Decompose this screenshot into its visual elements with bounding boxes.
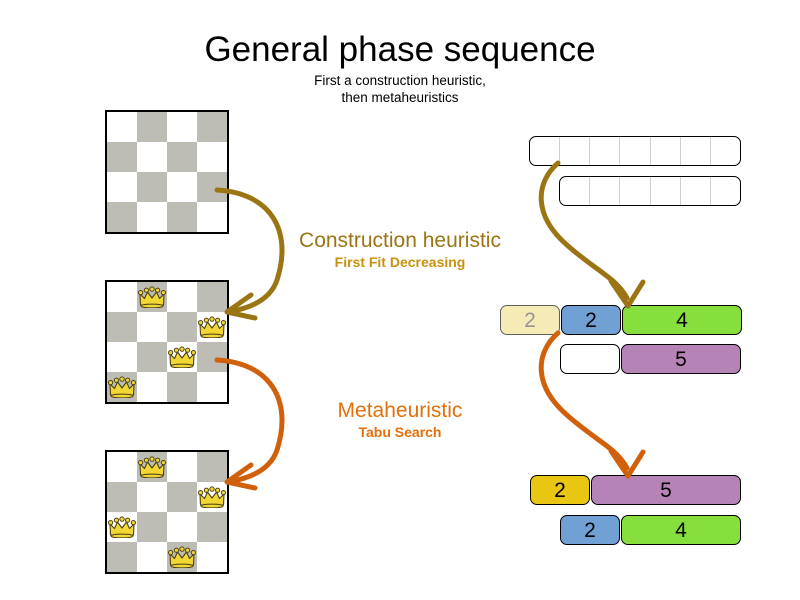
bin-item: 4: [621, 515, 741, 545]
board-cell: [197, 202, 227, 232]
bin-slot: [711, 137, 740, 165]
board-cell: [167, 482, 197, 512]
board-cell: [107, 202, 137, 232]
chessboard-after-metaheuristic: [105, 450, 229, 574]
bin-item: 2: [560, 515, 620, 545]
board-cell: [107, 312, 137, 342]
bin-slot: [620, 177, 650, 205]
board-cell: [167, 202, 197, 232]
board-cell: [197, 512, 227, 542]
queen-icon: [138, 286, 166, 308]
bin-row-metaheuristic-1: 25: [530, 475, 742, 505]
bin-row-construction-2: 5: [560, 344, 742, 374]
board-cell: [167, 282, 197, 312]
board-cell: [137, 112, 167, 142]
board-cell: [107, 372, 137, 402]
bin-item: 5: [591, 475, 741, 505]
board-cell: [107, 542, 137, 572]
board-cell: [167, 542, 197, 572]
page-subtitle-line-1: First a construction heuristic,: [0, 72, 800, 89]
board-cell: [197, 342, 227, 372]
bin-item: 2: [500, 305, 560, 335]
queen-icon: [168, 346, 196, 368]
board-cell: [107, 282, 137, 312]
board-cell: [137, 142, 167, 172]
board-cell: [107, 112, 137, 142]
page-subtitle-line-2: then metaheuristics: [0, 89, 800, 106]
board-cell: [137, 172, 167, 202]
board-cell: [167, 142, 197, 172]
board-cell: [137, 202, 167, 232]
bin-slot: [590, 137, 620, 165]
board-cell: [137, 282, 167, 312]
board-cell: [197, 172, 227, 202]
board-cell: [137, 372, 167, 402]
board-cell: [167, 372, 197, 402]
bin-item: 2: [530, 475, 590, 505]
board-cell: [137, 512, 167, 542]
bin-slot: [681, 137, 711, 165]
phase-algorithm-construction: First Fit Decreasing: [270, 253, 530, 271]
phase-name-construction: Construction heuristic: [270, 228, 530, 253]
board-cell: [107, 342, 137, 372]
queen-icon: [168, 546, 196, 568]
board-cell: [197, 372, 227, 402]
bin-slot: [590, 177, 620, 205]
board-cell: [137, 482, 167, 512]
board-cell: [137, 542, 167, 572]
bin-row-construction-1: 224: [500, 305, 743, 335]
bin-item: 2: [561, 305, 621, 335]
board-cell: [167, 342, 197, 372]
board-cell: [197, 312, 227, 342]
phase-label-construction-heuristic: Construction heuristic First Fit Decreas…: [270, 228, 530, 271]
phase-name-metaheuristic: Metaheuristic: [270, 398, 530, 423]
board-cell: [107, 172, 137, 202]
bin-item: 5: [621, 344, 741, 374]
board-cell: [107, 482, 137, 512]
board-cell: [197, 542, 227, 572]
bin-item: 4: [622, 305, 742, 335]
chessboard-initial: [105, 110, 229, 234]
queen-icon: [108, 376, 136, 398]
phase-algorithm-metaheuristic: Tabu Search: [270, 423, 530, 441]
phase-label-metaheuristic: Metaheuristic Tabu Search: [270, 398, 530, 441]
queen-icon: [198, 316, 226, 338]
board-cell: [107, 452, 137, 482]
queen-icon: [198, 486, 226, 508]
board-cell: [167, 312, 197, 342]
bin-slot: [711, 177, 740, 205]
board-cell: [167, 112, 197, 142]
chessboard-after-construction: [105, 280, 229, 404]
board-cell: [107, 512, 137, 542]
page-subtitle: First a construction heuristic, then met…: [0, 72, 800, 106]
bin-slot: [530, 137, 560, 165]
empty-bin-row-2: [559, 176, 741, 206]
board-cell: [137, 452, 167, 482]
board-cell: [137, 312, 167, 342]
board-cell: [197, 282, 227, 312]
board-cell: [197, 112, 227, 142]
queen-icon: [108, 516, 136, 538]
board-cell: [107, 142, 137, 172]
bin-item-empty: [560, 344, 620, 374]
bin-slot: [620, 137, 650, 165]
bin-slot: [651, 177, 681, 205]
empty-bin-row-1: [529, 136, 741, 166]
page-title: General phase sequence: [0, 30, 800, 70]
bin-slot: [560, 177, 590, 205]
queen-icon: [138, 456, 166, 478]
bin-slot: [651, 137, 681, 165]
board-cell: [197, 142, 227, 172]
bin-slot: [560, 137, 590, 165]
board-cell: [197, 482, 227, 512]
board-cell: [167, 512, 197, 542]
board-cell: [197, 452, 227, 482]
bin-slot: [681, 177, 711, 205]
bin-row-metaheuristic-2: 24: [560, 515, 742, 545]
board-cell: [137, 342, 167, 372]
board-cell: [167, 452, 197, 482]
board-cell: [167, 172, 197, 202]
